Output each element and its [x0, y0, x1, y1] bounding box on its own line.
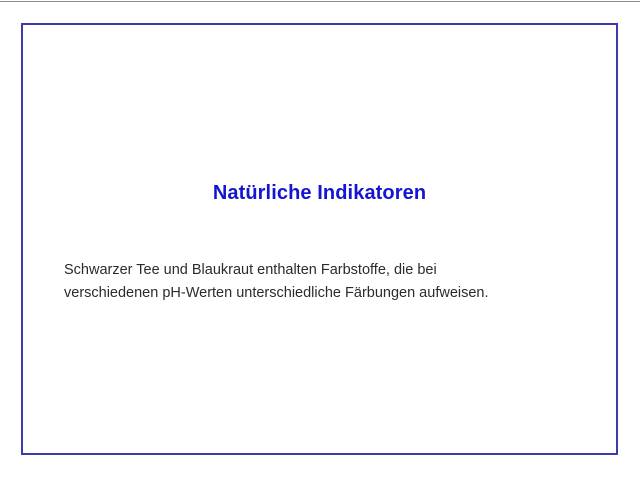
slide-body-text: Schwarzer Tee und Blaukraut enthalten Fa…: [64, 259, 584, 305]
body-text-line: Schwarzer Tee und Blaukraut enthalten Fa…: [64, 259, 584, 282]
presentation-slide: Natürliche Indikatoren Schwarzer Tee und…: [0, 0, 640, 480]
slide-border-frame: Natürliche Indikatoren Schwarzer Tee und…: [21, 23, 618, 455]
body-text-line: verschiedenen pH-Werten unterschiedliche…: [64, 282, 584, 305]
page-title: Natürliche Indikatoren: [23, 182, 616, 205]
top-hairline-divider: [0, 1, 640, 2]
